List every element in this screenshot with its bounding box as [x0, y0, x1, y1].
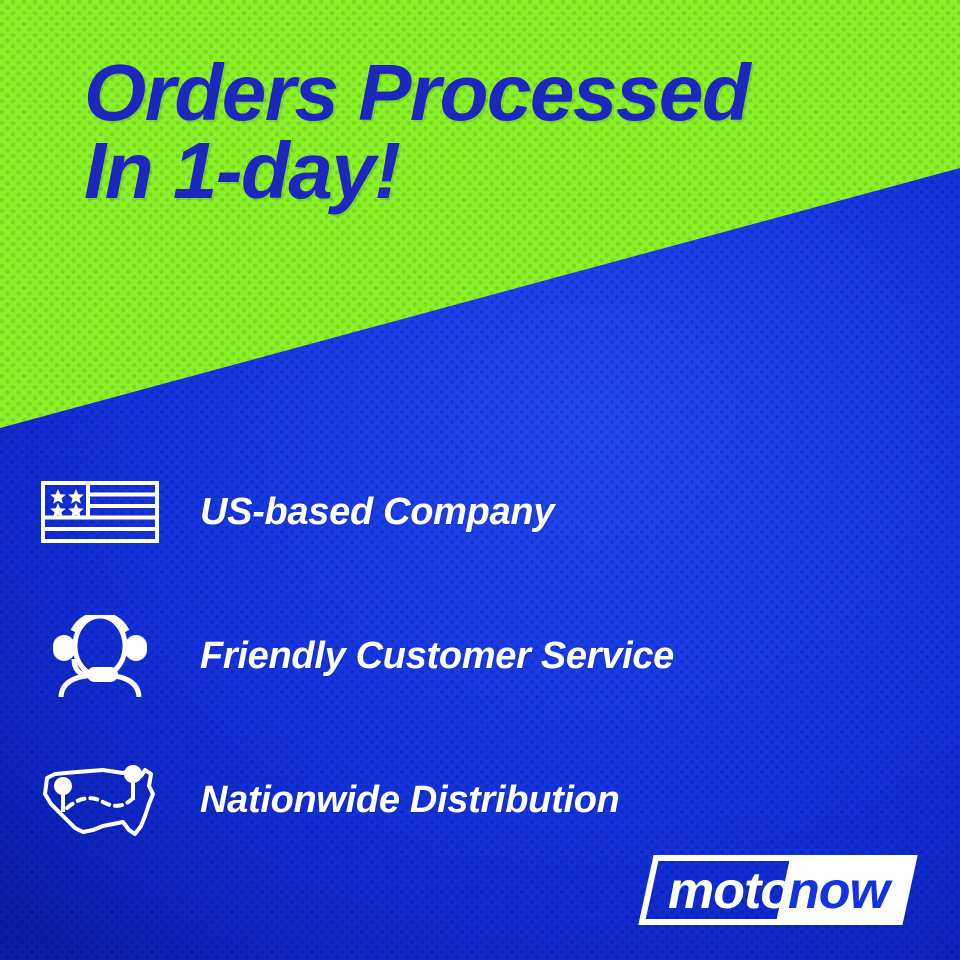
feature-label: Nationwide Distribution	[200, 779, 620, 822]
feature-list: US-based Company Friendly Customer Servi…	[0, 440, 960, 872]
feature-label: Friendly Customer Service	[200, 635, 674, 678]
motonow-logo: moto now	[638, 852, 918, 928]
feature-label: US-based Company	[200, 491, 554, 534]
logo-text-now: now	[788, 862, 894, 920]
us-map-route-icon	[37, 760, 163, 840]
logo-text-moto: moto	[668, 862, 791, 920]
feature-item-us-based: US-based Company	[0, 440, 960, 584]
feature-icon-wrapper	[0, 481, 200, 543]
us-flag-icon	[41, 481, 159, 543]
feature-icon-wrapper	[0, 760, 200, 840]
headline: Orders Processed In 1-day!	[84, 54, 924, 211]
feature-item-nationwide: Nationwide Distribution	[0, 728, 960, 872]
headset-support-icon	[43, 615, 157, 697]
promo-graphic: Orders Processed In 1-day!	[0, 0, 960, 960]
logo-mark: moto now	[638, 852, 918, 928]
feature-icon-wrapper	[0, 615, 200, 697]
feature-item-customer-service: Friendly Customer Service	[0, 584, 960, 728]
